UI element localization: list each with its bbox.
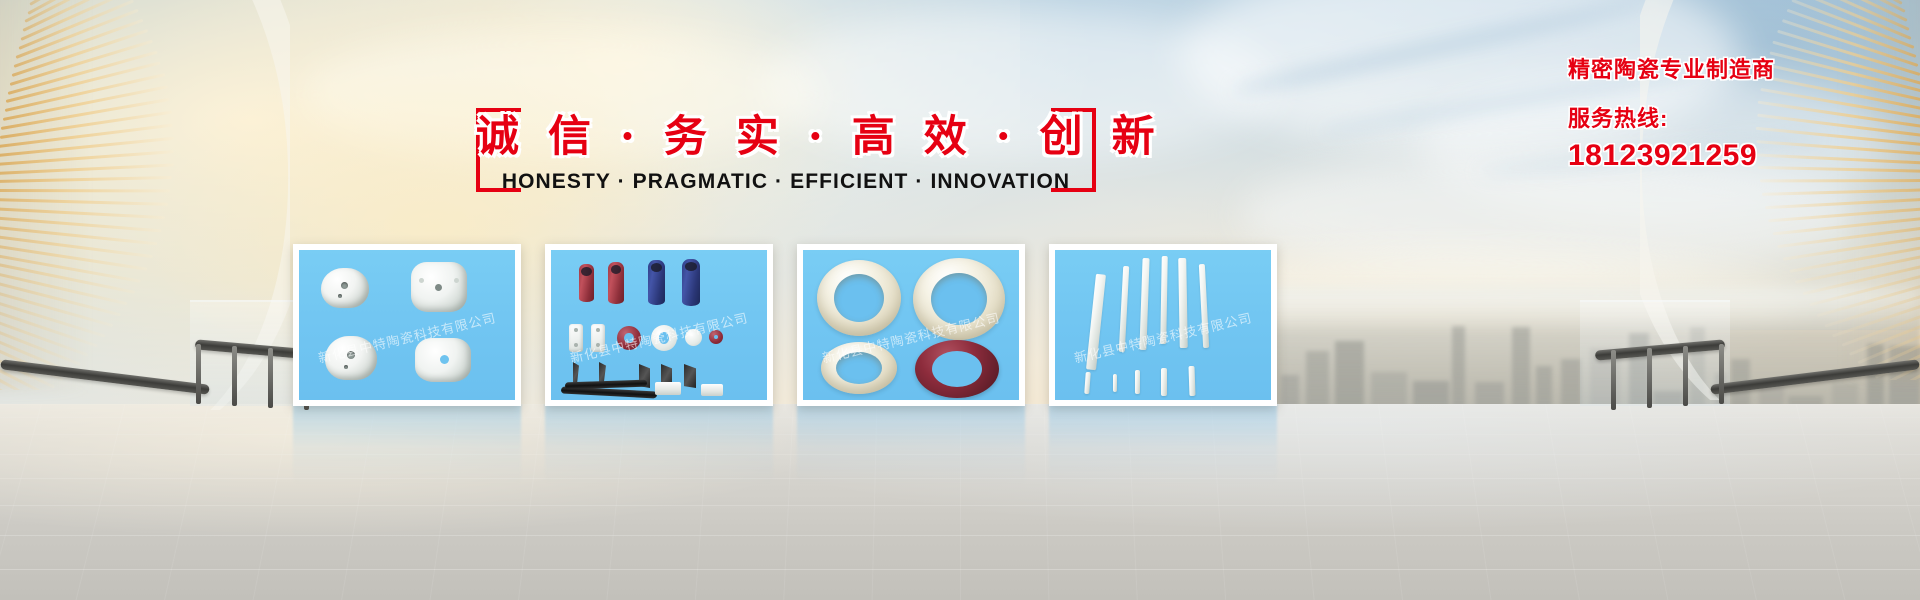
ceramic-tube-blue [682, 259, 700, 306]
ceramic-ring-white [685, 329, 702, 346]
ceramic-rod-small [1188, 366, 1195, 396]
canopy-slat [0, 207, 165, 219]
railing-post [196, 344, 201, 404]
ceramic-nozzle [321, 268, 369, 308]
cable-connector [655, 382, 681, 395]
ceramic-ring-large [913, 258, 1005, 340]
ceramic-ring-red [617, 326, 641, 350]
railing-post [1719, 344, 1724, 404]
railing-post [1647, 348, 1652, 408]
panel-reflection [1049, 404, 1277, 484]
ceramic-rod-small [1113, 374, 1117, 392]
panel-reflection [545, 404, 773, 484]
railing-post [1683, 346, 1688, 406]
product-panel-row: 新化县中特陶瓷科技有限公司 [293, 244, 1277, 406]
ceramic-ring-large [817, 260, 901, 336]
ceramic-ring-maroon [915, 340, 999, 398]
canopy-slat [0, 176, 172, 183]
ceramic-nozzle [325, 336, 377, 380]
product-image-rings: 新化县中特陶瓷科技有限公司 [803, 250, 1019, 400]
ceramic-tube-blue [648, 260, 665, 305]
product-panel-nozzles[interactable]: 新化县中特陶瓷科技有限公司 [293, 244, 521, 406]
terrace-floor [0, 404, 1920, 600]
slogan-english: HONESTY · PRAGMATIC · EFFICIENT · INNOVA… [456, 170, 1116, 194]
canopy-slat [0, 163, 173, 175]
ceramic-rod [1086, 274, 1106, 371]
ceramic-ring-large [821, 342, 897, 394]
ceramic-flange [415, 338, 471, 382]
company-tagline: 精密陶瓷专业制造商 [1568, 52, 1898, 84]
product-image-rods: 新化县中特陶瓷科技有限公司 [1055, 250, 1271, 400]
ceramic-rod [1160, 256, 1168, 344]
cable-connector [701, 384, 723, 396]
canopy-slat [0, 189, 170, 192]
slogan-chinese: 诚 信 · 务 实 · 高 效 · 创 新 [476, 102, 1096, 164]
ceramic-rod-small [1161, 368, 1167, 396]
railing-post [268, 348, 273, 408]
ceramic-blade [684, 364, 696, 388]
railing-post [1611, 350, 1616, 410]
canopy-slat [0, 234, 152, 258]
ceramic-rod [1178, 258, 1188, 348]
cable-assembly [565, 380, 647, 390]
slogan-block: 诚 信 · 务 实 · 高 效 · 创 新 HONESTY · PRAGMATI… [476, 108, 1096, 192]
ceramic-rod [1199, 264, 1209, 348]
ceramic-rod-small [1135, 370, 1140, 394]
canopy-slat [0, 198, 168, 206]
ceramic-ring-red [709, 330, 723, 344]
product-image-nozzles: 新化县中特陶瓷科技有限公司 [299, 250, 515, 400]
ceramic-tube-red [579, 264, 594, 302]
ceramic-flange [411, 262, 467, 312]
canopy-slat [1760, 179, 1920, 182]
hotline-label: 服务热线: [1568, 101, 1898, 133]
canopy-slat [8, 50, 158, 94]
contact-block: 精密陶瓷专业制造商 服务热线: 18123921259 [1568, 52, 1898, 173]
product-panel-rings[interactable]: 新化县中特陶瓷科技有限公司 [797, 244, 1025, 406]
railing-post [232, 346, 237, 406]
hero-banner: 诚 信 · 务 实 · 高 效 · 创 新 HONESTY · PRAGMATI… [0, 0, 1920, 600]
ceramic-plate [591, 324, 605, 352]
panel-reflection [293, 404, 521, 484]
product-panel-rods[interactable]: 新化县中特陶瓷科技有限公司 [1049, 244, 1277, 406]
ceramic-tube-red [608, 262, 624, 304]
canopy-slat [1762, 188, 1920, 196]
canopy-slat [1765, 197, 1920, 209]
ceramic-plate [569, 324, 583, 352]
hotline-number[interactable]: 18123921259 [1568, 139, 1898, 173]
canopy-slat [10, 39, 154, 85]
ceramic-ring-white [651, 325, 677, 351]
ceramic-rod-small [1084, 372, 1091, 394]
ceramic-rod [1139, 258, 1149, 350]
product-image-tubes: 新化县中特陶瓷科技有限公司 [551, 250, 767, 400]
panel-reflection [797, 404, 1025, 484]
ceramic-rod [1119, 266, 1129, 352]
product-panel-tubes[interactable]: 新化县中特陶瓷科技有限公司 [545, 244, 773, 406]
